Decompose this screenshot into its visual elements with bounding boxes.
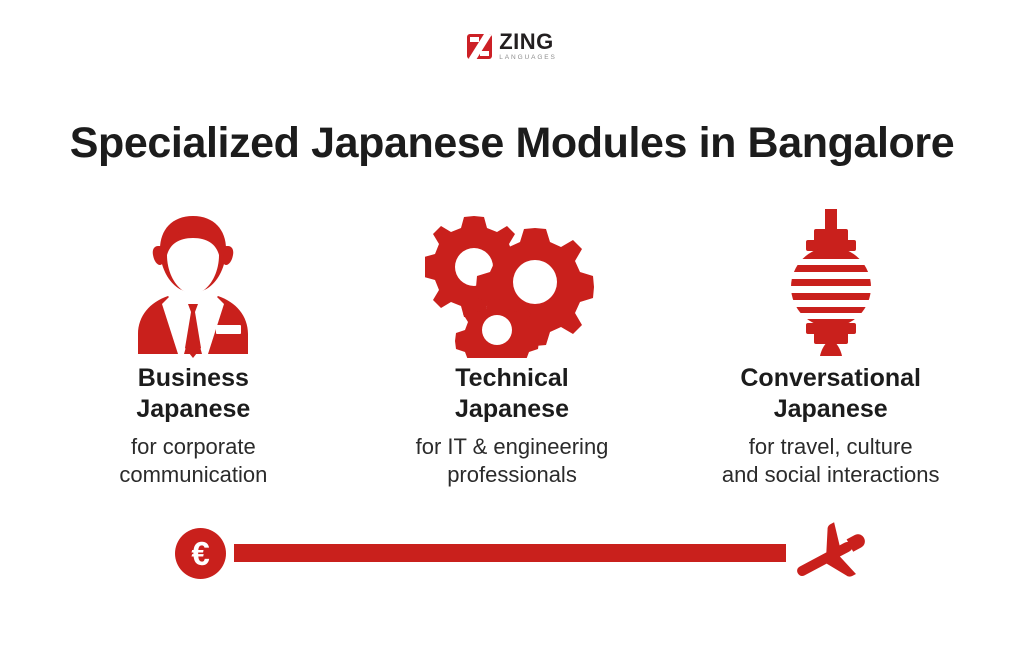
brand-logo-text: ZING LANGUAGES — [499, 31, 557, 62]
brand-logo-inner: ZING LANGUAGES — [467, 31, 557, 62]
zing-logo-mark-icon — [467, 34, 492, 59]
module-desc-line2: communication — [119, 461, 267, 489]
brand-tagline: LANGUAGES — [499, 55, 557, 62]
logo-notch-bottom-shape — [480, 51, 489, 56]
module-title-line1: Technical — [455, 363, 569, 394]
module-title-business: Business Japanese — [136, 363, 250, 425]
module-desc-line1: for travel, culture — [722, 433, 940, 461]
logo-notch-top-shape — [470, 37, 479, 42]
module-card-business: Business Japanese for corporate communic… — [34, 205, 353, 488]
module-description-business: for corporate communication — [119, 433, 267, 488]
page-title: Specialized Japanese Modules in Bangalor… — [62, 117, 962, 169]
brand-name: ZING — [499, 31, 557, 53]
brand-logo: ZING LANGUAGES — [0, 31, 1024, 62]
gears-icon — [425, 205, 600, 360]
module-title-line1: Business — [136, 363, 250, 394]
module-title-line2: Japanese — [136, 394, 250, 425]
travel-strip: € — [0, 520, 1024, 590]
module-desc-line2: and social interactions — [722, 461, 940, 489]
lantern-icon — [776, 205, 886, 360]
module-title-technical: Technical Japanese — [455, 363, 569, 425]
euro-circle-icon: € — [175, 528, 226, 579]
module-title-conversational: Conversational Japanese — [740, 363, 921, 425]
businessman-icon — [128, 205, 258, 360]
module-desc-line1: for corporate — [119, 433, 267, 461]
modules-row: Business Japanese for corporate communic… — [34, 205, 990, 488]
module-title-line2: Japanese — [740, 394, 921, 425]
module-title-line2: Japanese — [455, 394, 569, 425]
module-title-line1: Conversational — [740, 363, 921, 394]
module-description-technical: for IT & engineering professionals — [416, 433, 609, 488]
module-desc-line2: professionals — [416, 461, 609, 489]
module-description-conversational: for travel, culture and social interacti… — [722, 433, 940, 488]
travel-progress-bar — [234, 544, 786, 562]
module-desc-line1: for IT & engineering — [416, 433, 609, 461]
module-card-conversational: Conversational Japanese for travel, cult… — [671, 205, 990, 488]
airplane-icon — [790, 522, 870, 588]
module-card-technical: Technical Japanese for IT & engineering … — [353, 205, 672, 488]
infographic-canvas: ZING LANGUAGES Specialized Japanese Modu… — [0, 0, 1024, 671]
